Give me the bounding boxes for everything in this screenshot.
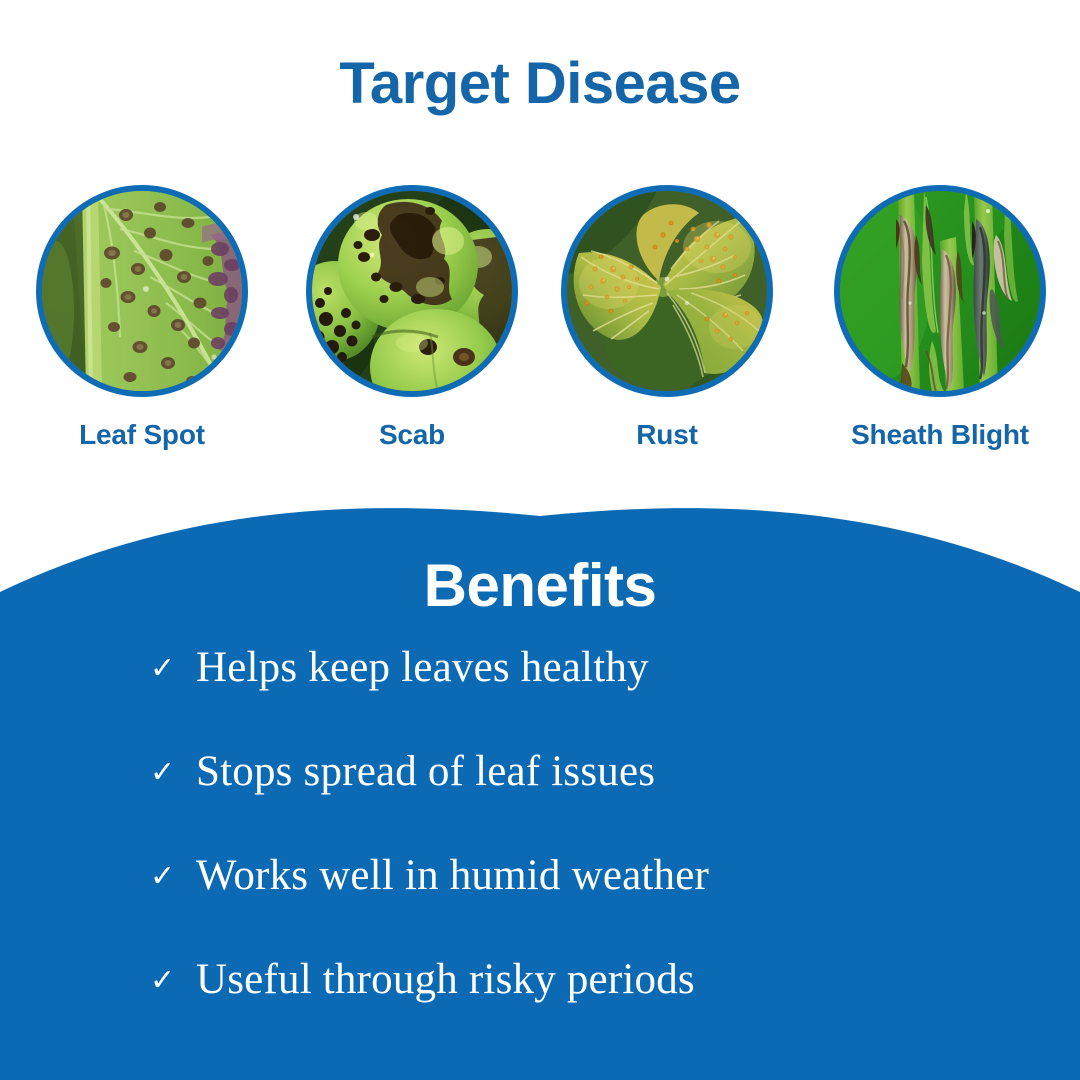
disease-label-rust: Rust: [559, 419, 775, 451]
check-icon: ✓: [150, 654, 196, 684]
leaf-spot-thumbnail[interactable]: [36, 185, 248, 397]
disease-thumbnail-grid: Leaf Spot: [0, 185, 1080, 455]
check-icon: ✓: [150, 758, 196, 788]
sheath-blight-photo: [840, 191, 1040, 391]
leaf-spot-photo: [42, 191, 242, 391]
rust-thumbnail[interactable]: [561, 185, 773, 397]
scab-thumbnail[interactable]: [306, 185, 518, 397]
disease-card-sheath-blight[interactable]: Sheath Blight: [832, 185, 1048, 451]
benefit-item: ✓ Useful through risky periods: [150, 958, 950, 1062]
target-disease-section: Target Disease: [0, 0, 1080, 520]
benefits-title: Benefits: [0, 553, 1080, 619]
sheath-blight-thumbnail[interactable]: [834, 185, 1046, 397]
benefits-list: ✓ Helps keep leaves healthy ✓ Stops spre…: [150, 646, 950, 1062]
benefits-section: Benefits ✓ Helps keep leaves healthy ✓ S…: [0, 500, 1080, 1080]
disease-card-scab[interactable]: Scab: [304, 185, 520, 451]
poster-canvas: Target Disease: [0, 0, 1080, 1080]
benefit-item: ✓ Helps keep leaves healthy: [150, 646, 950, 750]
benefits-content: Benefits ✓ Helps keep leaves healthy ✓ S…: [0, 500, 1080, 1080]
benefit-text: Useful through risky periods: [196, 958, 950, 1001]
disease-card-leaf-spot[interactable]: Leaf Spot: [34, 185, 250, 451]
scab-photo: [312, 191, 512, 391]
benefit-text: Helps keep leaves healthy: [196, 646, 950, 689]
page-title: Target Disease: [0, 52, 1080, 116]
disease-card-rust[interactable]: Rust: [559, 185, 775, 451]
rust-photo: [567, 191, 767, 391]
benefit-item: ✓ Works well in humid weather: [150, 854, 950, 958]
benefit-item: ✓ Stops spread of leaf issues: [150, 750, 950, 854]
disease-label-scab: Scab: [304, 419, 520, 451]
check-icon: ✓: [150, 862, 196, 892]
disease-label-sheath-blight: Sheath Blight: [832, 419, 1048, 451]
check-icon: ✓: [150, 966, 196, 996]
benefit-text: Stops spread of leaf issues: [196, 750, 950, 793]
benefit-text: Works well in humid weather: [196, 854, 950, 897]
disease-label-leaf-spot: Leaf Spot: [34, 419, 250, 451]
